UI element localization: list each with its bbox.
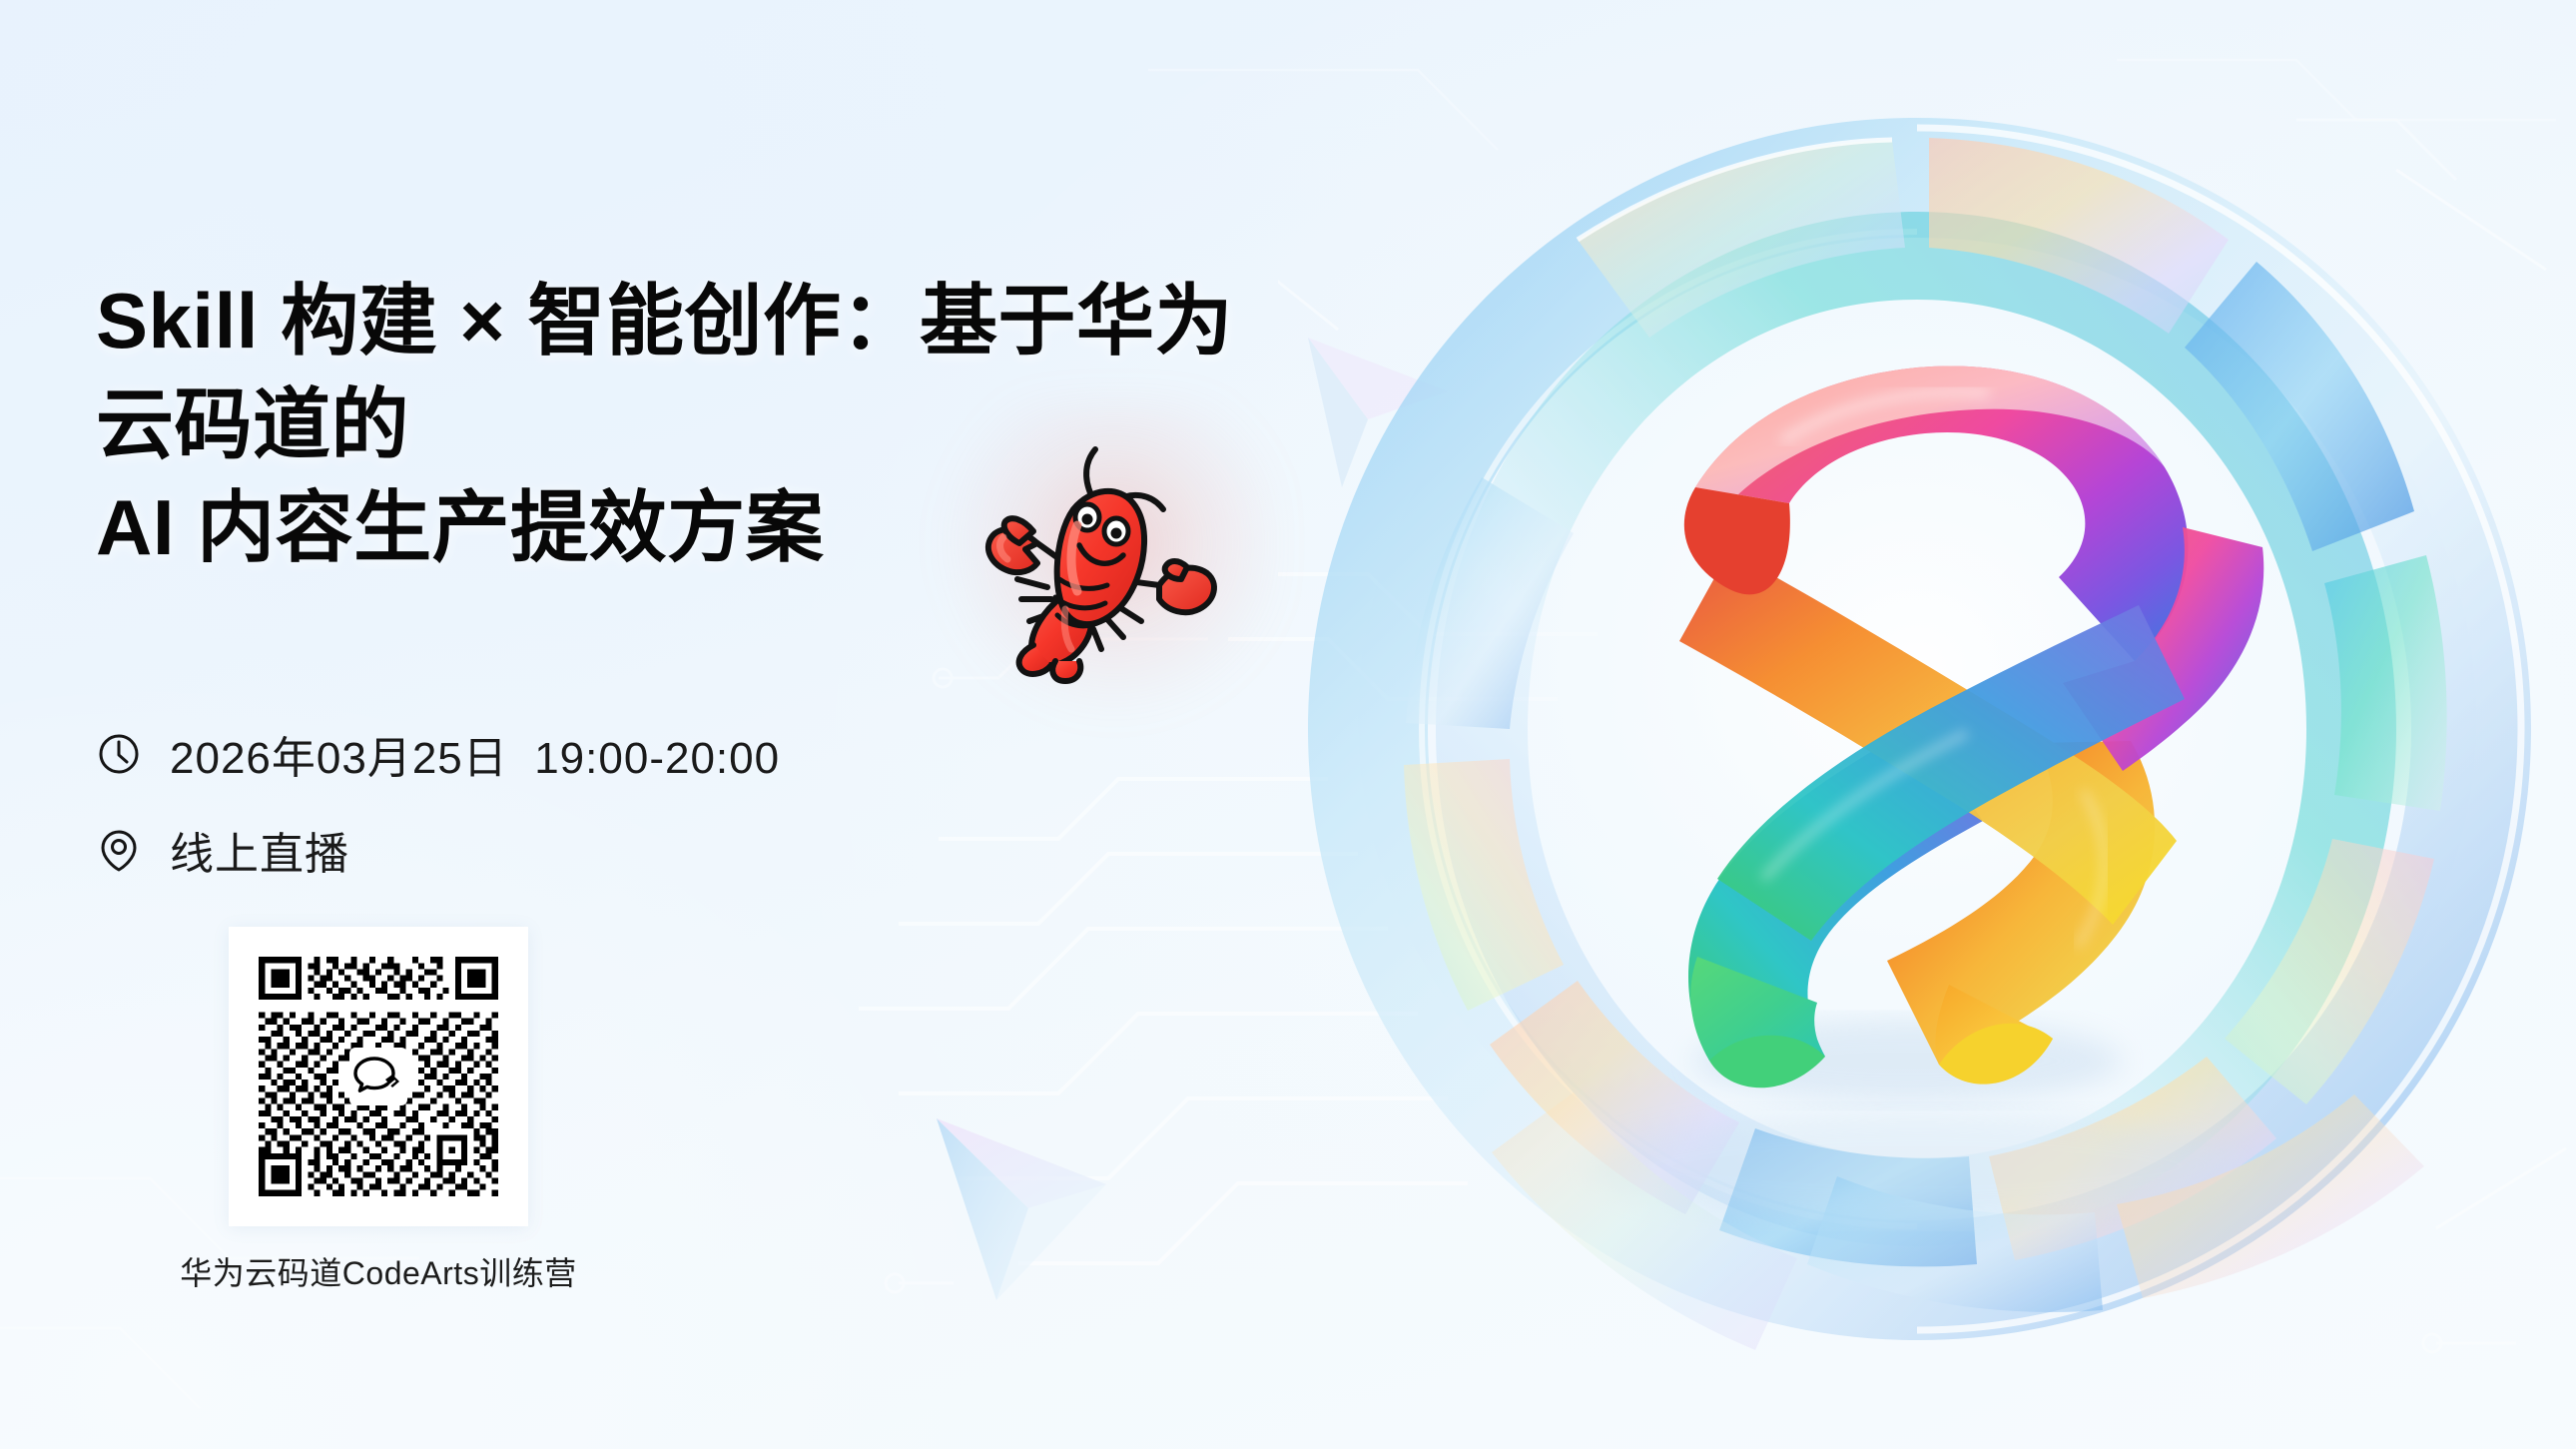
event-location-value: 线上直播 xyxy=(170,818,349,882)
qr-code[interactable] xyxy=(229,927,528,1226)
location-pin-icon xyxy=(96,827,142,873)
qr-caption: 华为云码道CodeArts训练营 xyxy=(180,1248,576,1294)
event-meta: 2026年03月25日 19:00-20:00 线上直播 xyxy=(96,717,780,887)
event-time-value: 2026年03月25日 19:00-20:00 xyxy=(170,722,780,786)
clock-icon xyxy=(96,731,142,777)
event-promo-banner: Skill 构建 × 智能创作：基于华为云码道的 AI 内容生产提效方案 202… xyxy=(0,0,2576,1449)
hero-artwork xyxy=(1278,0,2576,1449)
wechat-speech-bubble-icon xyxy=(349,1048,407,1105)
qr-block: 华为云码道CodeArts训练营 xyxy=(229,927,528,1226)
event-time-row: 2026年03月25日 19:00-20:00 xyxy=(96,717,780,791)
banner-content: Skill 构建 × 智能创作：基于华为云码道的 AI 内容生产提效方案 202… xyxy=(0,0,1298,1449)
event-location-row: 线上直播 xyxy=(96,813,780,887)
crayfish-lobster-mascot xyxy=(973,439,1233,689)
